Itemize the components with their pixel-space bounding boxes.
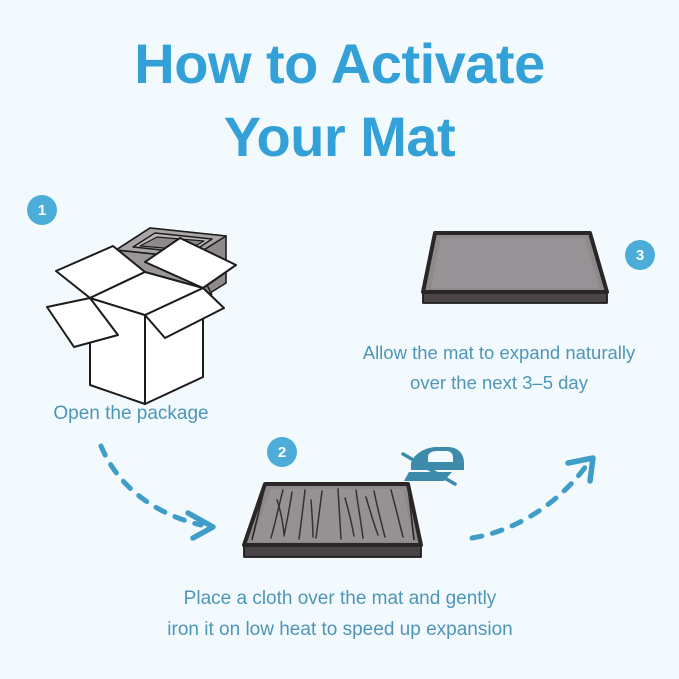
step-caption-3-line-1: Allow the mat to expand naturally <box>320 338 678 368</box>
page-title-line-1: How to Activate <box>0 28 679 101</box>
step-badge-1: 1 <box>27 195 57 225</box>
step-caption-3-line-2: over the next 3–5 day <box>320 368 678 398</box>
step-badge-3: 3 <box>625 240 655 270</box>
cardboard-box-icon <box>47 228 236 404</box>
page-title-line-2: Your Mat <box>0 101 679 174</box>
mat-wrinkled-icon <box>244 484 421 557</box>
step-caption-2-line-2: iron it on low heat to speed up expansio… <box>110 615 570 646</box>
step-caption-1: Open the package <box>0 399 262 430</box>
mat-flat-icon <box>423 233 607 303</box>
folded-mat-shape <box>116 228 226 305</box>
arrow-step1-to-step2 <box>101 446 213 538</box>
step-caption-1-line-1: Open the package <box>0 399 262 430</box>
iron-icon <box>403 447 464 484</box>
step-caption-3: Allow the mat to expand naturally over t… <box>320 338 678 398</box>
step-caption-2-line-1: Place a cloth over the mat and gently <box>110 584 570 615</box>
page-title: How to Activate Your Mat <box>0 28 679 174</box>
arrow-step2-to-step3 <box>472 458 593 538</box>
step-caption-2: Place a cloth over the mat and gently ir… <box>110 584 570 646</box>
step-badge-2: 2 <box>267 437 297 467</box>
infographic-root: How to Activate Your Mat <box>0 0 679 679</box>
